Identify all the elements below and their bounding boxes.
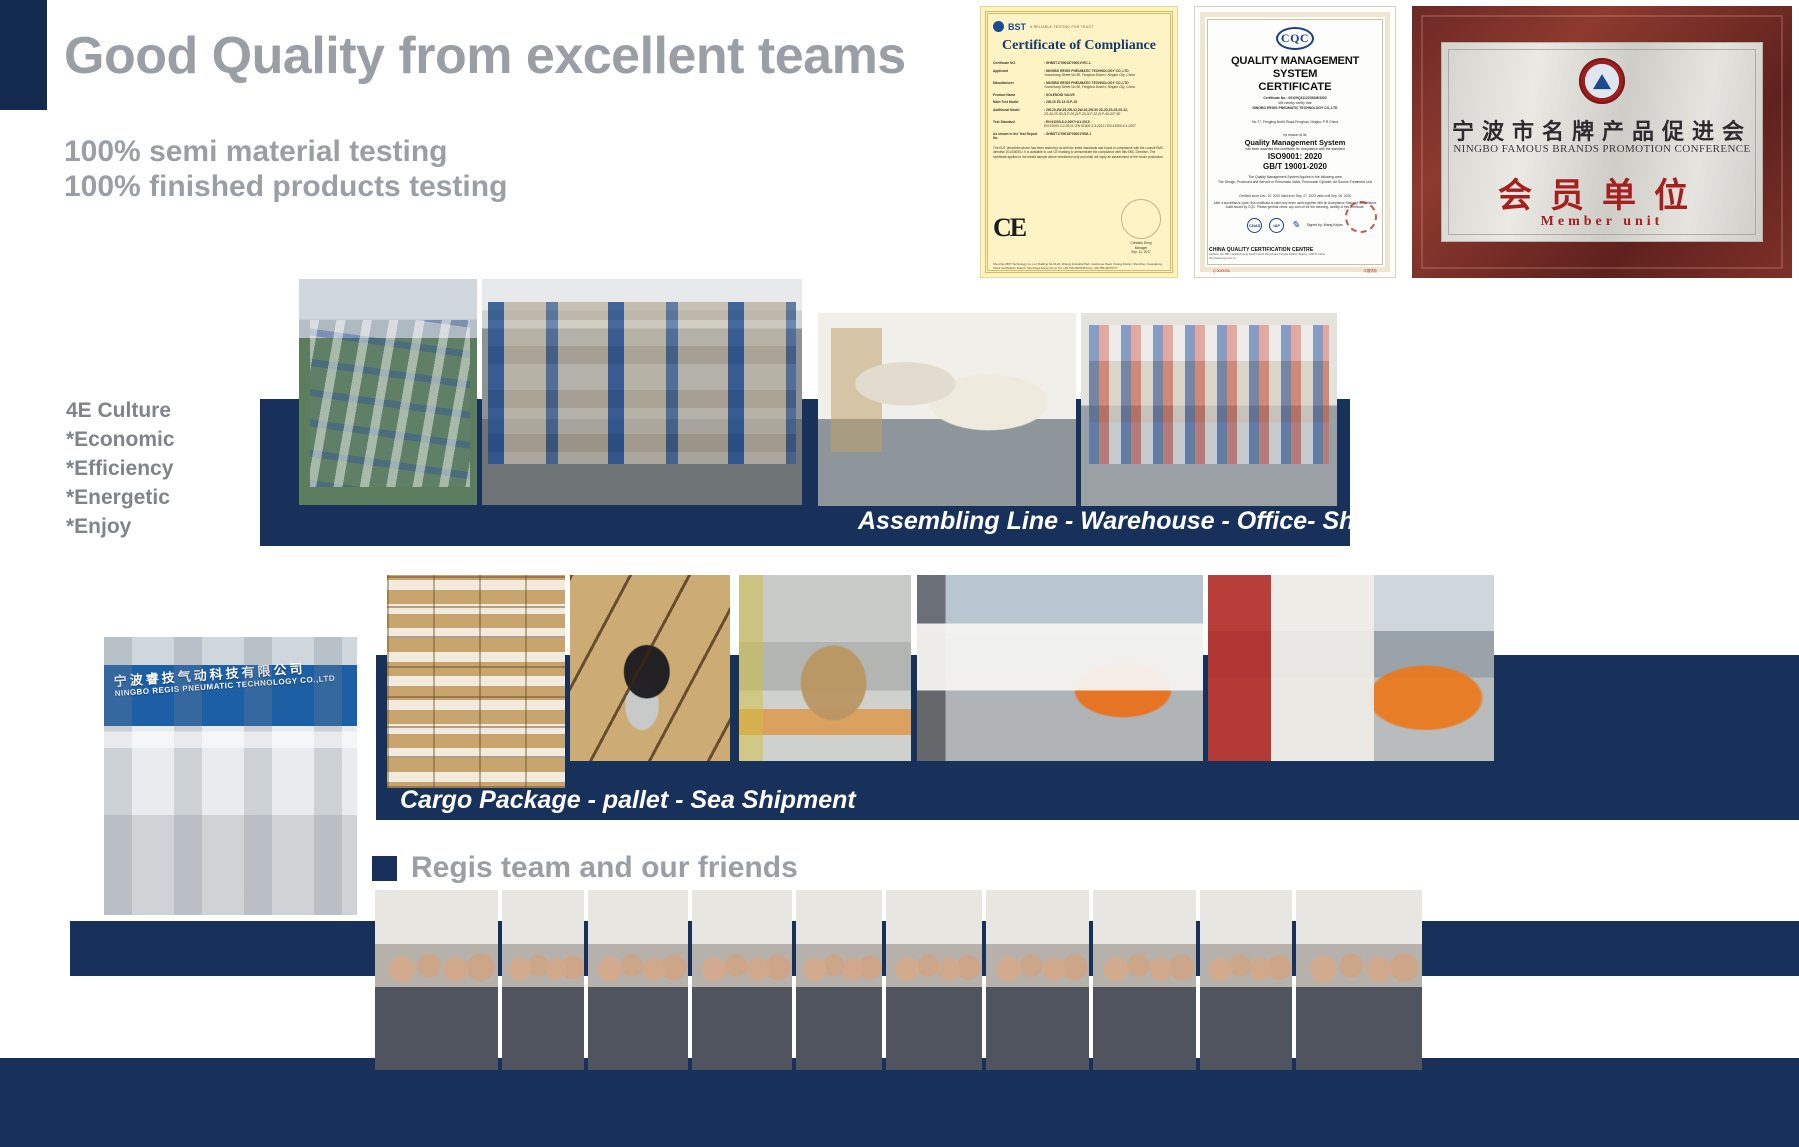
ce-field-value-main: : NINGBO REGIS PNEUMATIC TECHNOLOGY CO.,…: [1044, 69, 1129, 73]
container-truck-photo: [1208, 575, 1494, 761]
cqc-logo-icon: CQC: [1276, 27, 1314, 50]
friends-photo-6: [886, 890, 982, 1070]
booth-banner-cn: 宁波睿技气动科技有限公司: [114, 659, 347, 687]
friends-bottom-bar: [0, 1058, 1799, 1147]
cqc-scope-detail: The Design, Produced and Service in Pneu…: [1211, 180, 1379, 185]
quality-management-certificate: CQC QUALITY MANAGEMENT SYSTEM CERTIFICAT…: [1194, 6, 1396, 278]
ce-field-value: : NINGBO REGIS PNEUMATIC TECHNOLOGY CO.,…: [1044, 69, 1165, 78]
ce-field-key: Applicant: [993, 69, 1039, 78]
ce-field-value: : 2W-20,2W-25,2W-32,2W-40,2W-50 2S-20,2S…: [1044, 108, 1165, 117]
culture-heading: 4E Culture: [66, 396, 175, 425]
friends-photo-4: [692, 890, 792, 1070]
ce-stamp-icon: [1121, 199, 1161, 239]
friends-photo-3: [588, 890, 688, 1070]
cqc-serial-left: Q 0049256: [1213, 269, 1230, 273]
ce-field-row: Product Name : SOLENOID VALVE: [993, 93, 1165, 97]
ce-field-row: Certificate NO. : SHBST1709018700001YEC-…: [993, 61, 1165, 65]
ce-mark-icon: CE: [993, 213, 1025, 243]
cqc-standard-gbt: GB/T 19001-2020: [1211, 162, 1379, 172]
ce-field-row: As shown in the Test Report No. : SHBST1…: [993, 132, 1165, 141]
cqc-footer-url: http://www.cqc.com.cn: [1209, 257, 1381, 261]
product-package-photo: [570, 575, 730, 761]
cqc-title-line-2: CERTIFICATE: [1211, 81, 1379, 93]
culture-item-economic: *Economic: [66, 425, 175, 454]
ce-field-key: Product Name: [993, 93, 1039, 97]
exhibition-booth-photo: 宁波睿技气动科技有限公司 NINGBO REGIS PNEUMATIC TECH…: [104, 637, 357, 915]
plaque-org-name-cn: 宁波市名牌产品促进会: [1441, 114, 1763, 146]
ce-field-value: : SHBST1709018700001YEC-1: [1044, 61, 1165, 65]
ce-field-value: : SHBST1709018700001YEM-1: [1044, 132, 1165, 141]
friends-photo-9: [1200, 890, 1292, 1070]
friends-photo-7: [986, 890, 1089, 1070]
cqc-signed-by: Signed by: Wang Kejian: [1307, 223, 1343, 228]
plaque-org-name-en: NINGBO FAMOUS BRANDS PROMOTION CONFERENC…: [1441, 143, 1763, 155]
culture-item-efficiency: *Efficiency: [66, 454, 175, 483]
ce-signer-date: Sep. 11, 2017: [1121, 250, 1161, 255]
cqc-signature-icon: ✎: [1291, 220, 1299, 231]
ce-field-key: As shown in the Test Report No.: [993, 132, 1039, 141]
ce-field-value-sub: EN 61000-3-2:2014 / EN 61000-3-3:2013 / …: [1044, 124, 1165, 128]
ce-field-key: Additional Model: [993, 108, 1039, 117]
assembling-line-caption: Assembling Line - Warehouse - Office- Sh…: [858, 507, 1452, 536]
ce-field-value-sub: Yuanchang Street No.58, Fenghua District…: [1044, 73, 1165, 77]
subtitle-line-2: 100% finished products testing: [64, 170, 507, 204]
plaque-award-cn: 会员单位: [1441, 168, 1763, 217]
ce-field-key: Certificate NO.: [993, 61, 1039, 65]
title-accent-bar: [0, 0, 47, 110]
ce-field-row: Additional Model : 2W-20,2W-25,2W-32,2W-…: [993, 108, 1165, 117]
cqc-footer-block: CHINA QUALITY CERTIFICATION CENTRE Addre…: [1209, 247, 1381, 261]
page-title: Good Quality from excellent teams: [64, 26, 906, 86]
ce-field-value-main: : EN 61000-6-2:2007+A1:2015: [1044, 120, 1090, 124]
ce-field-value-main: : NINGBO REGIS PNEUMATIC TECHNOLOGY CO.,…: [1044, 81, 1129, 85]
ce-field-row: Applicant : NINGBO REGIS PNEUMATIC TECHN…: [993, 69, 1165, 78]
ce-declaration-paragraph: The EUT described above has been tested …: [993, 146, 1165, 160]
cqc-standard-iso9001: ISO9001: 2020: [1211, 152, 1379, 162]
bst-logo-icon: [993, 21, 1004, 32]
loading-truck-photo: [917, 575, 1203, 761]
friends-heading-text: Regis team and our friends: [411, 851, 798, 885]
cqc-title-line-1: QUALITY MANAGEMENT SYSTEM: [1211, 55, 1379, 81]
cargo-package-caption: Cargo Package - pallet - Sea Shipment: [400, 786, 856, 815]
ce-field-row: Manufacturer : NINGBO REGIS PNEUMATIC TE…: [993, 81, 1165, 90]
plaque-metal-panel: 宁波市名牌产品促进会 NINGBO FAMOUS BRANDS PROMOTIO…: [1441, 42, 1763, 242]
culture-item-enjoy: *Enjoy: [66, 512, 175, 541]
ce-field-value-main: : 2W-20,2W-25,2W-32,2W-40,2W-50 2S-20,2S…: [1044, 108, 1128, 112]
culture-item-energetic: *Energetic: [66, 483, 175, 512]
cqc-company-address: No.77, Fengling North Road,Fenghua, Ning…: [1211, 120, 1379, 125]
slide-canvas: Good Quality from excellent teams 100% s…: [0, 0, 1799, 1147]
office-photo: [818, 313, 1076, 506]
ningbo-brands-emblem-icon: [1579, 58, 1625, 104]
warehouse-photo: [482, 279, 802, 505]
ce-signature-block: Christine Deng Manager Sep. 11, 2017: [1121, 199, 1161, 255]
ce-field-value: : NINGBO REGIS PNEUMATIC TECHNOLOGY CO.,…: [1044, 81, 1165, 90]
cnas-mark-icon: CNAS: [1247, 218, 1262, 233]
booth-banner-text: 宁波睿技气动科技有限公司 NINGBO REGIS PNEUMATIC TECH…: [114, 659, 348, 699]
friends-heading: Regis team and our friends: [372, 851, 798, 885]
friends-bullet-icon: [372, 856, 397, 881]
certificate-of-compliance: BST A RELIABLE TESTING FOR TRUST Certifi…: [980, 6, 1178, 278]
bst-logo: BST A RELIABLE TESTING FOR TRUST: [993, 21, 1165, 32]
ce-field-value: : 2W-15 2S-15 2LP-15: [1044, 100, 1165, 104]
cqc-company-name: NINGBO REGIS PNEUMATIC TECHNOLOGY CO.,LT…: [1211, 106, 1379, 111]
ce-field-key: Manufacturer: [993, 81, 1039, 90]
ce-field-value-sub: Yuanchang Street No.58, Fenghua District…: [1044, 85, 1165, 89]
ce-field-row: Main Test Model : 2W-15 2S-15 2LP-15: [993, 100, 1165, 104]
member-unit-plaque: 宁波市名牌产品促进会 NINGBO FAMOUS BRANDS PROMOTIO…: [1412, 6, 1792, 278]
ce-field-value: : SOLENOID VALVE: [1044, 93, 1165, 97]
ce-certificate-title: Certificate of Compliance: [993, 38, 1165, 54]
friends-photo-10: [1296, 890, 1422, 1070]
ce-field-key: Main Test Model: [993, 100, 1039, 104]
friends-photo-8: [1093, 890, 1196, 1070]
cqc-red-seal-icon: [1345, 201, 1377, 233]
iaf-mark-icon: IAF: [1269, 218, 1284, 233]
booth-banner-en: NINGBO REGIS PNEUMATIC TECHNOLOGY CO.,LT…: [114, 671, 347, 699]
cqc-validity-dates: Certified since Dec. 10, 2020 Valid from…: [1211, 194, 1379, 199]
ce-field-row: Test Standard : EN 61000-6-2:2007+A1:201…: [993, 120, 1165, 129]
bst-tagline: A RELIABLE TESTING FOR TRUST: [1030, 25, 1093, 29]
emblem-pagoda-icon: [1593, 74, 1611, 89]
friends-photo-5: [796, 890, 882, 1070]
subtitle-line-1: 100% semi material testing: [64, 135, 448, 169]
assembling-line-photo: [299, 279, 477, 505]
friends-photo-1: [375, 890, 498, 1070]
ce-field-list: Certificate NO. : SHBST1709018700001YEC-…: [993, 61, 1165, 141]
ce-footer-text: Shenzhen BST Technology Co.,Ltd. Buildin…: [993, 263, 1165, 271]
plaque-award-en: Member unit: [1441, 214, 1763, 230]
ce-field-key: Test Standard: [993, 120, 1039, 129]
ce-field-value: : EN 61000-6-2:2007+A1:2015 EN 61000-3-2…: [1044, 120, 1165, 129]
bst-brand-name: BST: [1008, 22, 1026, 32]
culture-block: 4E Culture *Economic *Efficiency *Energe…: [66, 396, 175, 541]
ce-field-value-sub: 2S-40,2S-50,2LP-20,2LP-25,2LP-32,2LP-40,…: [1044, 112, 1165, 116]
cqc-serial-right: 中国质检: [1363, 268, 1377, 273]
pallet-photo: [739, 575, 911, 761]
cargo-boxes-photo: [387, 575, 565, 788]
showroom-photo: [1081, 313, 1337, 506]
friends-photo-2: [502, 890, 584, 1070]
cqc-system-name: Quality Management System: [1211, 138, 1379, 147]
